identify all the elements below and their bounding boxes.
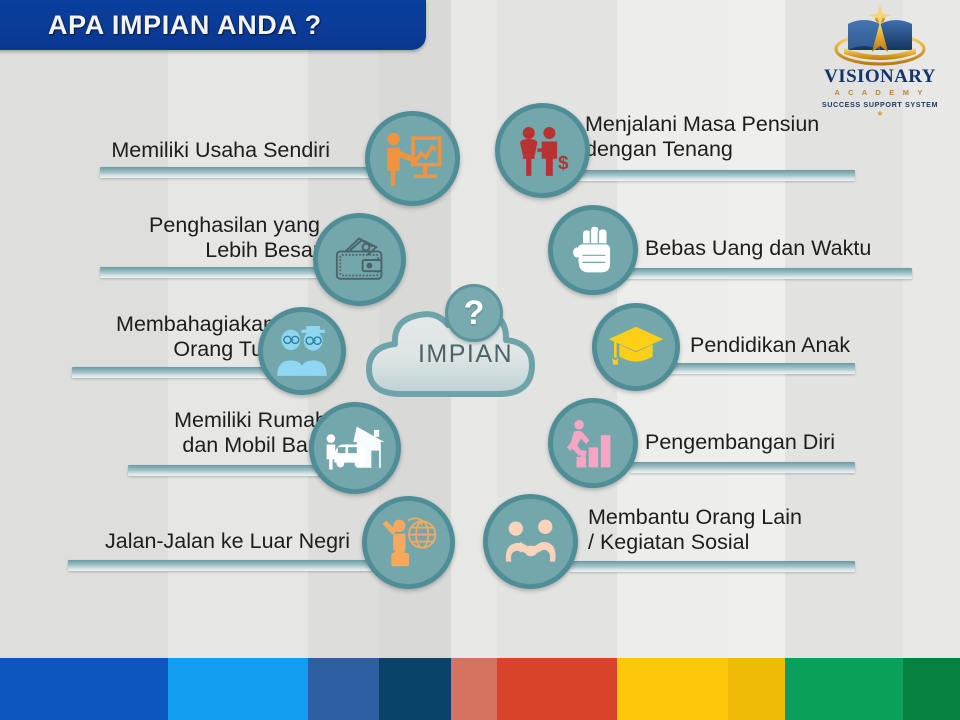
elderly-couple-icon[interactable] (258, 307, 346, 395)
item-bar (100, 267, 345, 278)
strip-band-9 (903, 658, 960, 720)
presentation-chart-person-icon[interactable] (365, 111, 460, 206)
item-label: Membantu Orang Lain / Kegiatan Sosial (588, 505, 888, 555)
book-emblem-icon (830, 4, 930, 66)
page-title: APA IMPIAN ANDA ? (48, 10, 322, 41)
cloud-label: IMPIAN (363, 340, 568, 369)
bottom-color-strip (0, 658, 960, 720)
logo-wordmark: VISIONARY (824, 67, 936, 86)
brand-logo: VISIONARY A C A D E M Y SUCCESS SUPPORT … (814, 4, 946, 110)
two-people-helping-icon[interactable] (483, 494, 578, 589)
item-bar (100, 167, 400, 178)
strip-band-7 (728, 658, 785, 720)
strip-band-1 (168, 658, 308, 720)
item-label: Bebas Uang dan Waktu (645, 236, 945, 261)
item-bar (570, 170, 855, 181)
strip-band-2 (308, 658, 379, 720)
item-bar (128, 465, 343, 476)
house-car-icon[interactable] (309, 402, 401, 494)
svg-text:$: $ (558, 153, 569, 174)
logo-star-icon: ★ (876, 110, 883, 118)
strip-band-4 (451, 658, 497, 720)
traveler-globe-suitcase-icon[interactable] (362, 496, 455, 589)
strip-band-5 (497, 658, 617, 720)
item-label: Memiliki Usaha Sendiri (60, 138, 330, 163)
item-label: Jalan-Jalan ke Luar Negri (40, 529, 350, 554)
item-label: Membahagiakan Orang Tua (40, 312, 275, 362)
item-bar (620, 268, 912, 279)
graduation-cap-icon[interactable] (592, 303, 680, 391)
retired-couple-dollar-icon[interactable]: $ (495, 103, 590, 198)
item-bar (570, 561, 855, 572)
logo-tagline: SUCCESS SUPPORT SYSTEM (822, 100, 938, 109)
question-mark-badge: ? (445, 284, 503, 342)
strip-band-3 (379, 658, 451, 720)
logo-subtitle: A C A D E M Y (834, 88, 925, 97)
raised-fist-icon[interactable] (548, 205, 638, 295)
item-label: Memiliki Rumah dan Mobil Baru (95, 408, 327, 458)
item-bar (68, 560, 373, 571)
slide-canvas: APA IMPIAN ANDA ? (0, 0, 960, 720)
item-bar (630, 462, 855, 473)
center-cloud: ? IMPIAN (363, 286, 568, 401)
title-banner: APA IMPIAN ANDA ? (0, 0, 426, 50)
item-label: Menjalani Masa Pensiun dengan Tenang (585, 112, 885, 162)
running-person-bar-chart-icon[interactable] (548, 398, 638, 488)
item-label: Penghasilan yang Lebih Besar (70, 213, 320, 263)
strip-band-6 (617, 658, 728, 720)
item-label: Pendidikan Anak (690, 333, 950, 358)
item-label: Pengembangan Diri (645, 430, 925, 455)
strip-band-0 (0, 658, 168, 720)
strip-band-8 (785, 658, 903, 720)
